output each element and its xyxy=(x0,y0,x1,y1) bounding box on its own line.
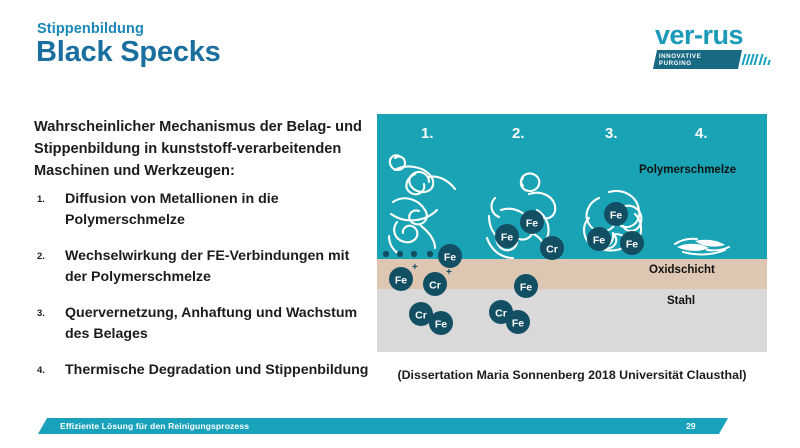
logo-tagline-badge: INNOVATIVE PURGING xyxy=(653,50,742,69)
svg-text:Cr: Cr xyxy=(415,310,427,322)
logo-tagline-text: INNOVATIVE PURGING xyxy=(659,53,736,67)
svg-text:Fe: Fe xyxy=(512,318,524,330)
logo-wordmark: ver-rus xyxy=(655,22,770,49)
list-item: 1. Diffusion von Metallionen in die Poly… xyxy=(34,189,374,231)
list-item-number: 4. xyxy=(34,360,65,381)
ion-fe: Fe xyxy=(514,274,538,298)
ion-fe: Fe xyxy=(495,224,519,248)
figure-caption: (Dissertation Maria Sonnenberg 2018 Univ… xyxy=(377,368,767,382)
svg-text:Fe: Fe xyxy=(610,210,622,222)
slide-footer: Effiziente Lösung für den Reinigungsproz… xyxy=(0,418,800,436)
diagram-svg: 1. 2. 3. 4. Polymerschmelze Oxidschicht … xyxy=(377,114,767,352)
stage-number-1: 1. xyxy=(421,125,434,142)
list-item-label: Quervernetzung, Anhaftung und Wachstum d… xyxy=(65,303,374,345)
ion-fe: Fe xyxy=(587,227,611,251)
svg-text:Fe: Fe xyxy=(520,282,532,294)
list-item-number: 3. xyxy=(34,303,65,345)
page-kicker: Stippenbildung xyxy=(37,21,144,37)
list-item: 2. Wechselwirkung der FE-Verbindungen mi… xyxy=(34,246,374,288)
layer-polymer-melt xyxy=(377,114,767,259)
svg-text:Fe: Fe xyxy=(526,218,538,230)
slide: Stippenbildung Black Specks ver-rus INNO… xyxy=(0,0,800,448)
ion-fe: Fe xyxy=(506,310,530,334)
svg-text:Fe: Fe xyxy=(444,252,456,264)
layer-label-steel: Stahl xyxy=(667,295,695,307)
svg-text:Fe: Fe xyxy=(435,319,447,331)
list-item-label: Thermische Degradation und Stippenbildun… xyxy=(65,360,368,381)
svg-text:+: + xyxy=(412,262,418,273)
svg-text:Fe: Fe xyxy=(593,235,605,247)
list-item: 3. Quervernetzung, Anhaftung und Wachstu… xyxy=(34,303,374,345)
ion-cr: Cr xyxy=(540,236,564,260)
svg-text:+: + xyxy=(446,267,452,278)
layer-label-polymer: Polymerschmelze xyxy=(639,164,736,176)
svg-text:Fe: Fe xyxy=(501,232,513,244)
list-item-label: Wechselwirkung der FE-Verbindungen mit d… xyxy=(65,246,374,288)
list-item-label: Diffusion von Metallionen in die Polymer… xyxy=(65,189,374,231)
page-number: 29 xyxy=(686,421,696,431)
mechanism-diagram: 1. 2. 3. 4. Polymerschmelze Oxidschicht … xyxy=(377,114,767,352)
ion-fe: Fe xyxy=(520,210,544,234)
brand-logo: ver-rus INNOVATIVE PURGING xyxy=(655,22,770,68)
stage-number-2: 2. xyxy=(512,125,525,142)
layer-label-oxide: Oxidschicht xyxy=(649,264,715,276)
mechanism-list: 1. Diffusion von Metallionen in die Poly… xyxy=(34,189,374,396)
ion-fe: Fe xyxy=(604,202,628,226)
list-item: 4. Thermische Degradation und Stippenbil… xyxy=(34,360,374,381)
svg-text:Cr: Cr xyxy=(429,280,441,292)
ion-fe: Fe xyxy=(438,244,462,268)
logo-speedlines-icon xyxy=(743,54,770,65)
svg-text:Cr: Cr xyxy=(546,244,558,256)
ion-fe: Fe xyxy=(620,231,644,255)
list-item-number: 1. xyxy=(34,189,65,231)
ion-fe: Fe xyxy=(429,311,453,335)
footer-label: Effiziente Lösung für den Reinigungsproz… xyxy=(60,421,249,431)
svg-text:Cr: Cr xyxy=(495,308,507,320)
svg-text:Fe: Fe xyxy=(395,275,407,287)
list-item-number: 2. xyxy=(34,246,65,288)
logo-subrow: INNOVATIVE PURGING xyxy=(655,50,770,69)
intro-paragraph: Wahrscheinlicher Mechanismus der Belag- … xyxy=(34,116,364,182)
stage-number-3: 3. xyxy=(605,125,618,142)
svg-text:Fe: Fe xyxy=(626,239,638,251)
stage-number-4: 4. xyxy=(695,125,708,142)
page-title: Black Specks xyxy=(36,36,221,69)
